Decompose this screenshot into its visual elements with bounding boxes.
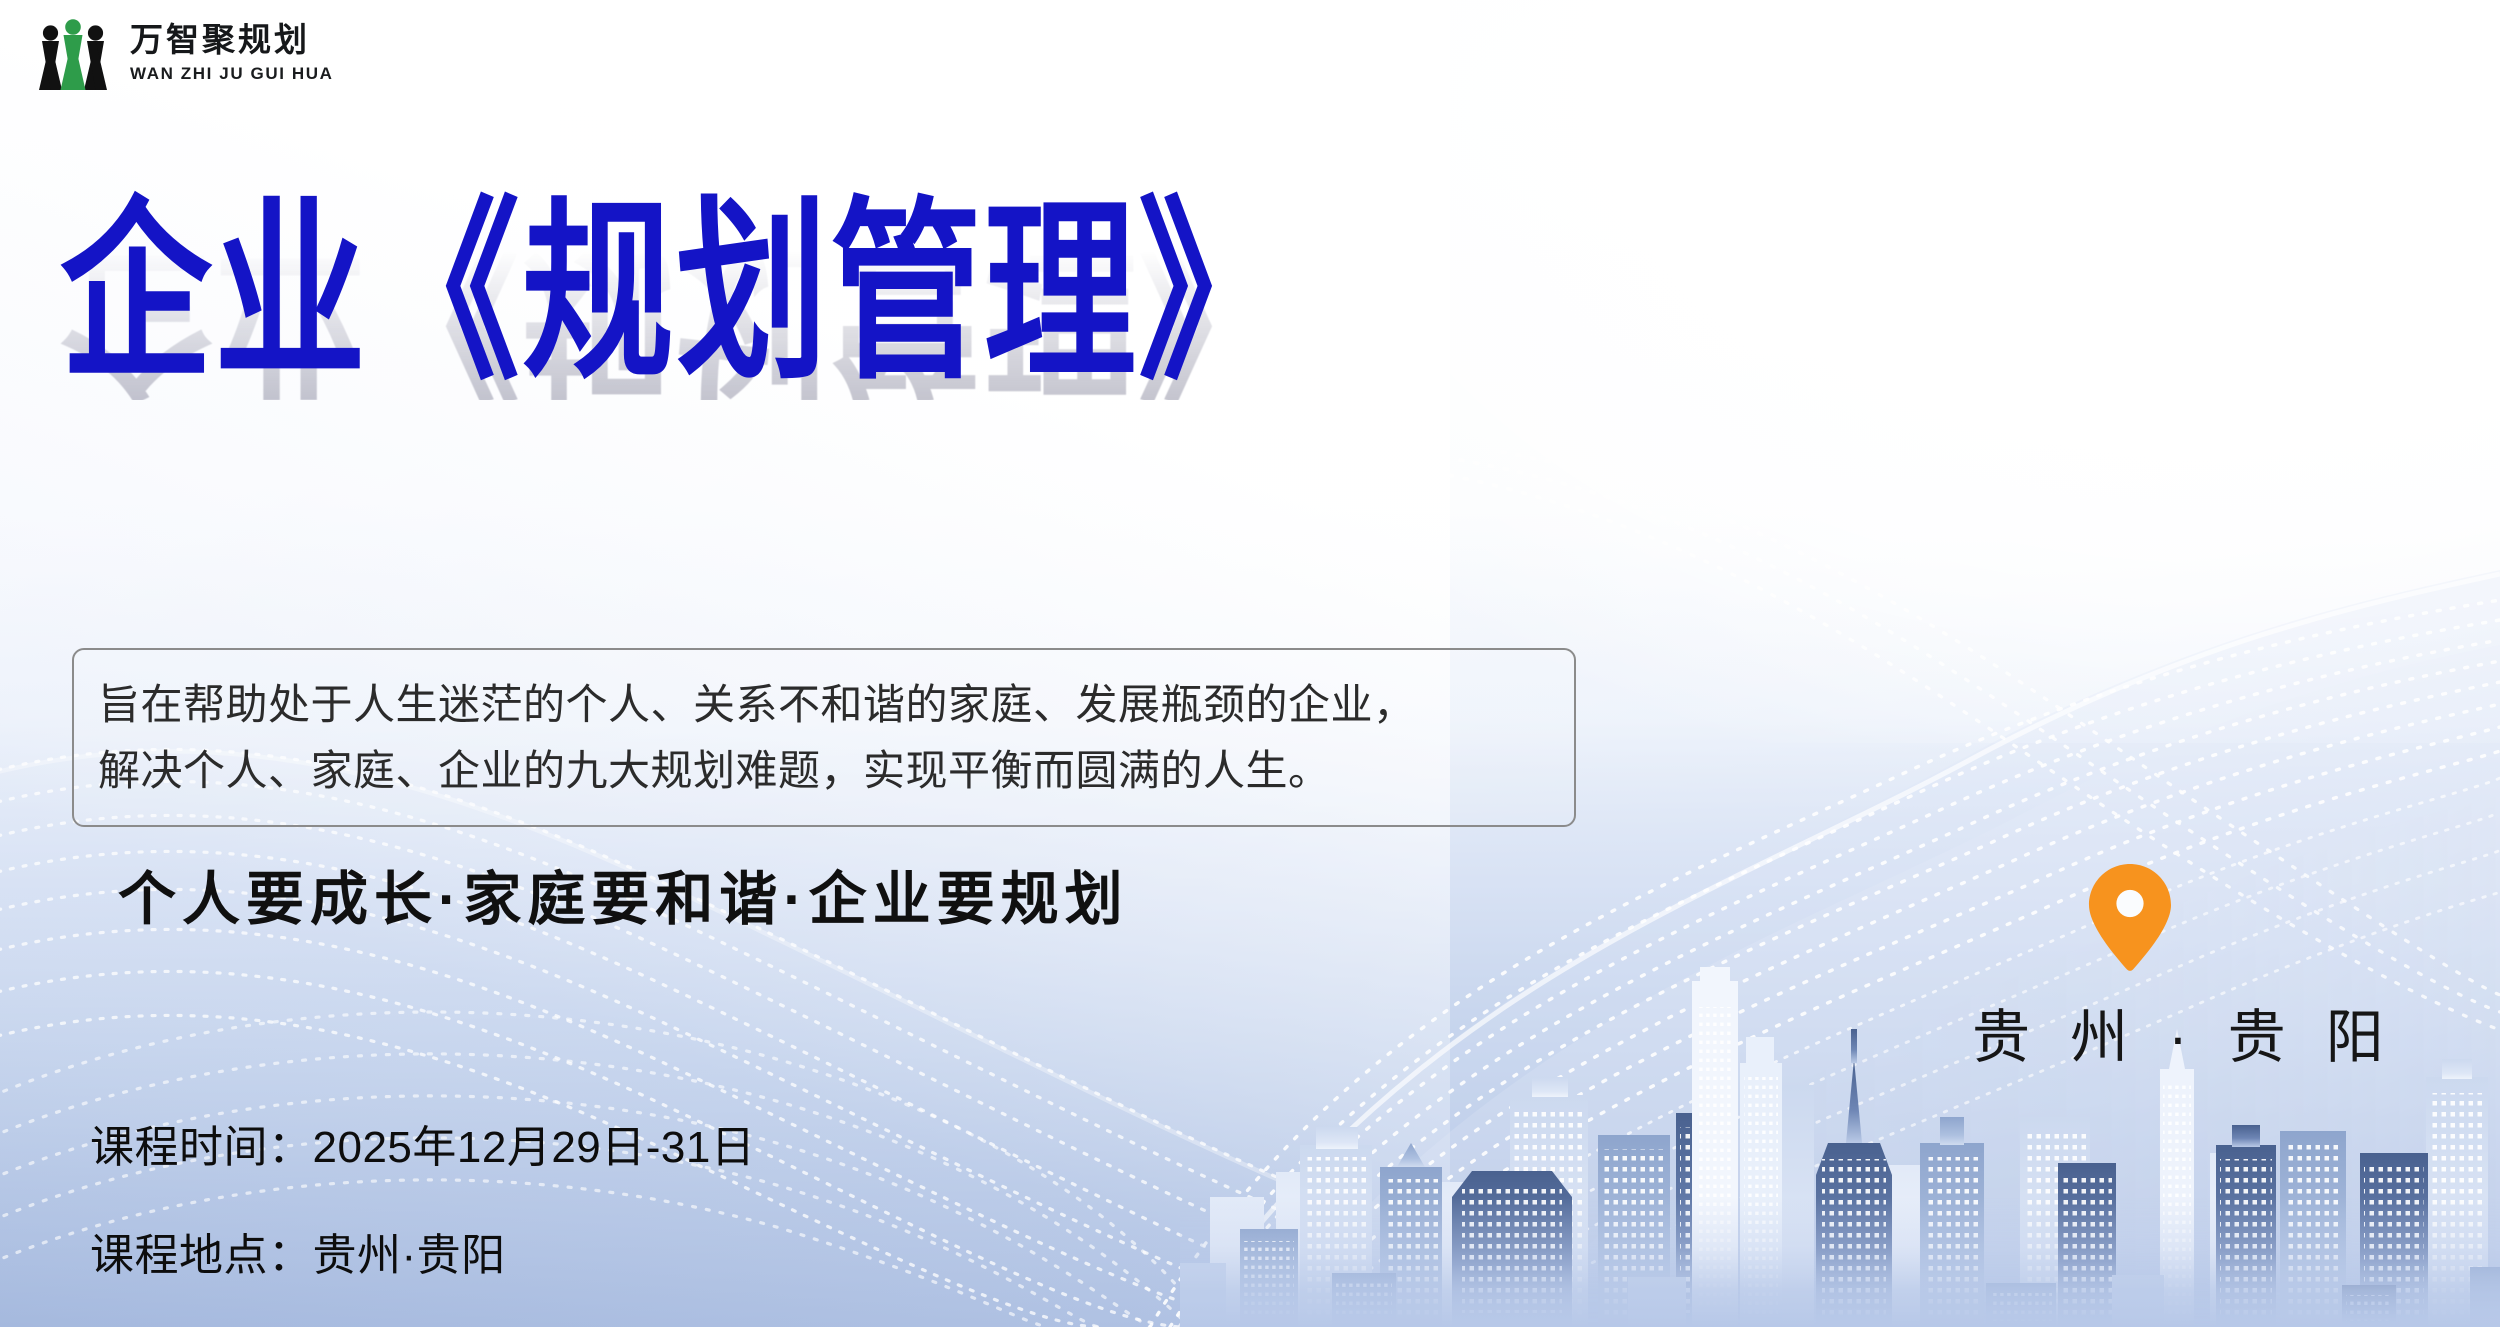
map-pin-icon [2087, 862, 2173, 972]
hero-title-block: 企业《规划管理》 企业《规划管理》 [60, 196, 1292, 348]
location-name: 贵 州 · 贵 阳 [1960, 990, 2300, 1074]
brand-logo-text: 万智聚规划 WAN ZHI JU GUI HUA [130, 25, 334, 82]
brand-logo[interactable]: 万智聚规划 WAN ZHI JU GUI HUA [30, 16, 334, 90]
description-line-2: 解决个人、家庭、企业的九大规划难题，实现平衡而圆满的人生。 [98, 738, 1550, 804]
location-block: 贵 州 · 贵 阳 [1960, 862, 2300, 1074]
course-place: 课程地点：贵州·贵阳 [90, 1219, 755, 1283]
poster-canvas: 万智聚规划 WAN ZHI JU GUI HUA 企业《规划管理》 企业《规划管… [0, 0, 2500, 1327]
course-time: 课程时间：2025年12月29日-31日 [90, 1111, 755, 1175]
page-title: 企业《规划管理》 [60, 196, 1292, 391]
description-box: 旨在帮助处于人生迷茫的个人、关系不和谐的家庭、发展瓶颈的企业， 解决个人、家庭、… [72, 648, 1576, 827]
brand-name-en: WAN ZHI JU GUI HUA [130, 65, 334, 82]
three-people-logo-icon [30, 16, 116, 90]
hero-tagline: 个人要成长·家庭要和谐·企业要规划 [118, 852, 1129, 936]
description-line-1: 旨在帮助处于人生迷茫的个人、关系不和谐的家庭、发展瓶颈的企业， [98, 672, 1550, 738]
brand-name-cn: 万智聚规划 [130, 25, 334, 58]
course-info: 课程时间：2025年12月29日-31日 课程地点：贵州·贵阳 [90, 1111, 755, 1283]
